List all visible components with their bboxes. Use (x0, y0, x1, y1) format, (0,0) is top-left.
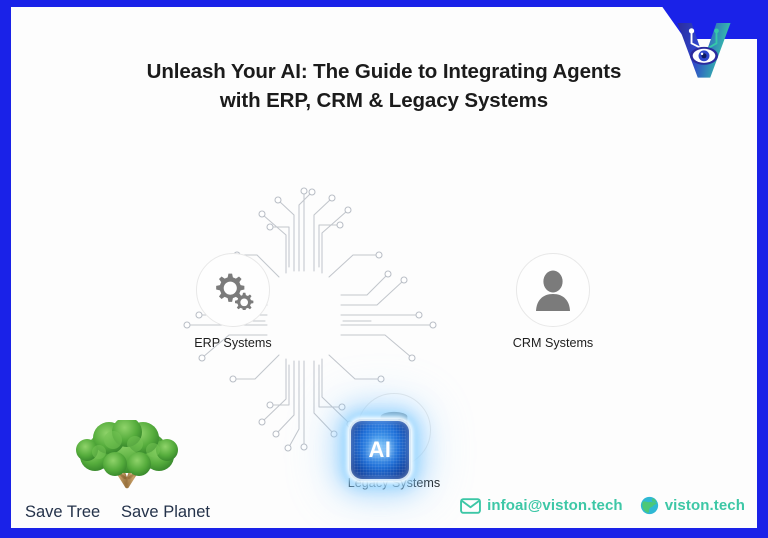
diagram-node-crm[interactable]: CRM Systems (489, 253, 617, 350)
envelope-icon (460, 498, 481, 514)
contact-website[interactable]: viston.tech (640, 496, 745, 515)
diagram-node-erp[interactable]: ERP Systems (169, 253, 297, 350)
contact-email[interactable]: infoai@viston.tech (460, 497, 623, 514)
contact-bar: infoai@viston.tech viston.tech (460, 496, 745, 515)
contact-website-text: viston.tech (665, 497, 745, 514)
title-line-1: Unleash Your AI: The Guide to Integratin… (73, 57, 695, 86)
page-title: Unleash Your AI: The Guide to Integratin… (11, 57, 757, 115)
gears-icon (211, 270, 255, 310)
erp-node-label: ERP Systems (169, 336, 297, 350)
crm-node-label: CRM Systems (489, 336, 617, 350)
save-tree-text: Save Tree (25, 503, 100, 522)
slide-canvas: Unleash Your AI: The Guide to Integratin… (11, 7, 757, 528)
erp-icon-circle (196, 253, 270, 327)
ai-chip-icon: AI (349, 419, 411, 481)
user-icon (533, 269, 573, 311)
save-planet-text: Save Planet (121, 503, 210, 522)
ai-chip-label: AI (369, 437, 392, 463)
save-tree-banner: Save Tree Save Planet (17, 416, 229, 528)
crm-icon-circle (516, 253, 590, 327)
tree-icon (69, 420, 185, 516)
title-line-2: with ERP, CRM & Legacy Systems (73, 86, 695, 115)
slide-frame: Unleash Your AI: The Guide to Integratin… (0, 0, 768, 538)
contact-email-text: infoai@viston.tech (487, 497, 623, 514)
globe-icon (640, 496, 659, 515)
